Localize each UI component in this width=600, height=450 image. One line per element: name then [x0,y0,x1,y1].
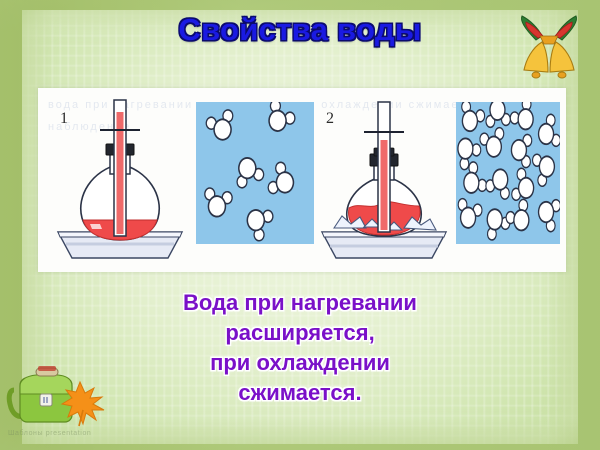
water-molecule [504,197,535,238]
water-molecule [509,102,540,138]
water-molecule [456,102,486,137]
flask-cooled-diagram [320,98,448,266]
illustration-panel: водa при нагревании расширяется при охла… [38,88,566,272]
water-molecule [479,126,508,161]
water-molecule [480,202,511,242]
molecules-sparse [196,102,314,244]
molecules-dense [456,102,560,244]
flask-heated-diagram [56,98,184,266]
water-molecule [485,102,511,128]
satchel-icon [6,360,118,432]
molecule-box-panel-1 [196,102,314,244]
water-molecule [267,160,299,201]
water-molecule [261,102,296,139]
body-line-1: Вода при нагревании [0,288,600,318]
bells-icon [510,14,588,86]
water-molecule [456,197,483,232]
body-line-2: расширяется, [0,318,600,348]
water-molecule [205,108,239,145]
water-molecule [231,153,265,190]
slide-canvas: Свойства воды водa при нагревании расшир… [0,0,600,450]
water-molecule [242,201,275,243]
water-molecule [535,113,560,153]
water-molecule [485,164,515,201]
water-molecule [531,147,558,187]
watermark-text: Шаблоны presentation [8,430,118,437]
water-molecule [535,193,560,233]
molecule-box-panel-2 [456,102,560,244]
water-molecule [510,133,532,168]
water-molecule [202,187,233,219]
